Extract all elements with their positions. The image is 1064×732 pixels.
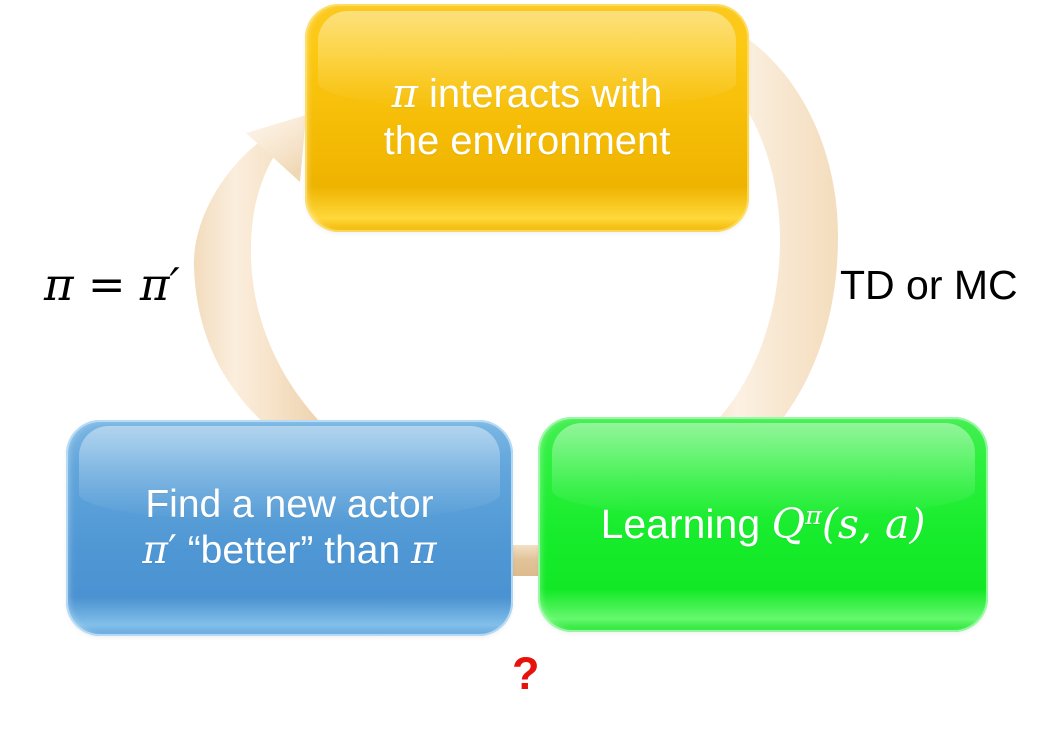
prime-glyph: ′ (168, 528, 177, 573)
node-interact-pi-symbol: π (392, 71, 418, 117)
diagram-canvas: π interacts with the environment Find a … (0, 0, 1064, 732)
node-improve-pi-symbol: π (411, 528, 437, 573)
node-improve-pi-prime-symbol: π′ (142, 528, 177, 573)
pi-symbol-right: π (140, 258, 170, 311)
node-interact-label: π interacts with the environment (370, 71, 685, 165)
node-improve-line1: Find a new actor (145, 483, 433, 526)
pi-symbol-left: π (44, 258, 74, 311)
node-find-a-new-actor[interactable]: Find a new actor π′ “better” than π (66, 420, 513, 636)
node-learn-label: Learning Qπ(s, a) (587, 500, 940, 548)
q-arg-state: s (838, 500, 859, 548)
label-question-mark: ? (512, 648, 540, 700)
label-td-or-mc: TD or MC (840, 262, 1018, 309)
q-symbol: Q (772, 500, 806, 548)
node-learning-q-function[interactable]: Learning Qπ(s, a) (538, 417, 988, 632)
node-interact-line2: the environment (384, 119, 671, 163)
equals-sign: = (74, 258, 140, 311)
node-improve-line2-mid: “better” than (177, 529, 411, 572)
q-arg-action: a (885, 500, 909, 548)
node-pi-interacts-with-environment[interactable]: π interacts with the environment (305, 4, 749, 232)
q-superscript-pi: π (805, 500, 822, 530)
q-paren-open: ( (822, 500, 838, 548)
prime-glyph-label: ′ (169, 258, 179, 311)
q-function-expression: Qπ(s, a) (772, 500, 926, 548)
node-interact-line1-rest: interacts with (418, 72, 663, 116)
label-pi-equals-pi-prime: π = π′ (44, 258, 180, 311)
node-learn-prefix: Learning (601, 501, 772, 547)
q-arg-separator: , (859, 500, 885, 548)
node-improve-label: Find a new actor π′ “better” than π (128, 482, 450, 574)
q-paren-close: ) (909, 500, 925, 548)
